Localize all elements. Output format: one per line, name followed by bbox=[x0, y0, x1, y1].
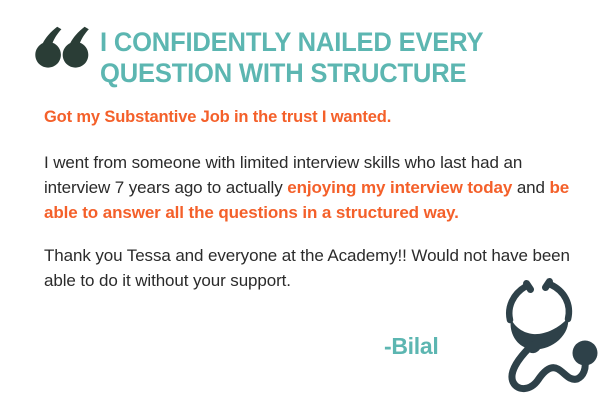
double-quote-open-icon bbox=[28, 26, 90, 81]
paragraph-run: Thank you Tessa and everyone at the Acad… bbox=[44, 246, 570, 290]
testimonial-card: I CONFIDENTLY NAILED EVERY QUESTION WITH… bbox=[0, 0, 600, 400]
attribution-name: -Bilal bbox=[384, 333, 438, 360]
headline-row: I CONFIDENTLY NAILED EVERY QUESTION WITH… bbox=[28, 24, 580, 90]
page-title: I CONFIDENTLY NAILED EVERY QUESTION WITH… bbox=[100, 24, 483, 90]
stethoscope-icon bbox=[495, 272, 600, 394]
subheading: Got my Substantive Job in the trust I wa… bbox=[44, 107, 391, 128]
interview-journey-paragraph: I went from someone with limited intervi… bbox=[44, 150, 574, 225]
paragraph-run-emphasis: enjoying my interview today bbox=[287, 178, 512, 197]
paragraph-run: and bbox=[512, 178, 549, 197]
